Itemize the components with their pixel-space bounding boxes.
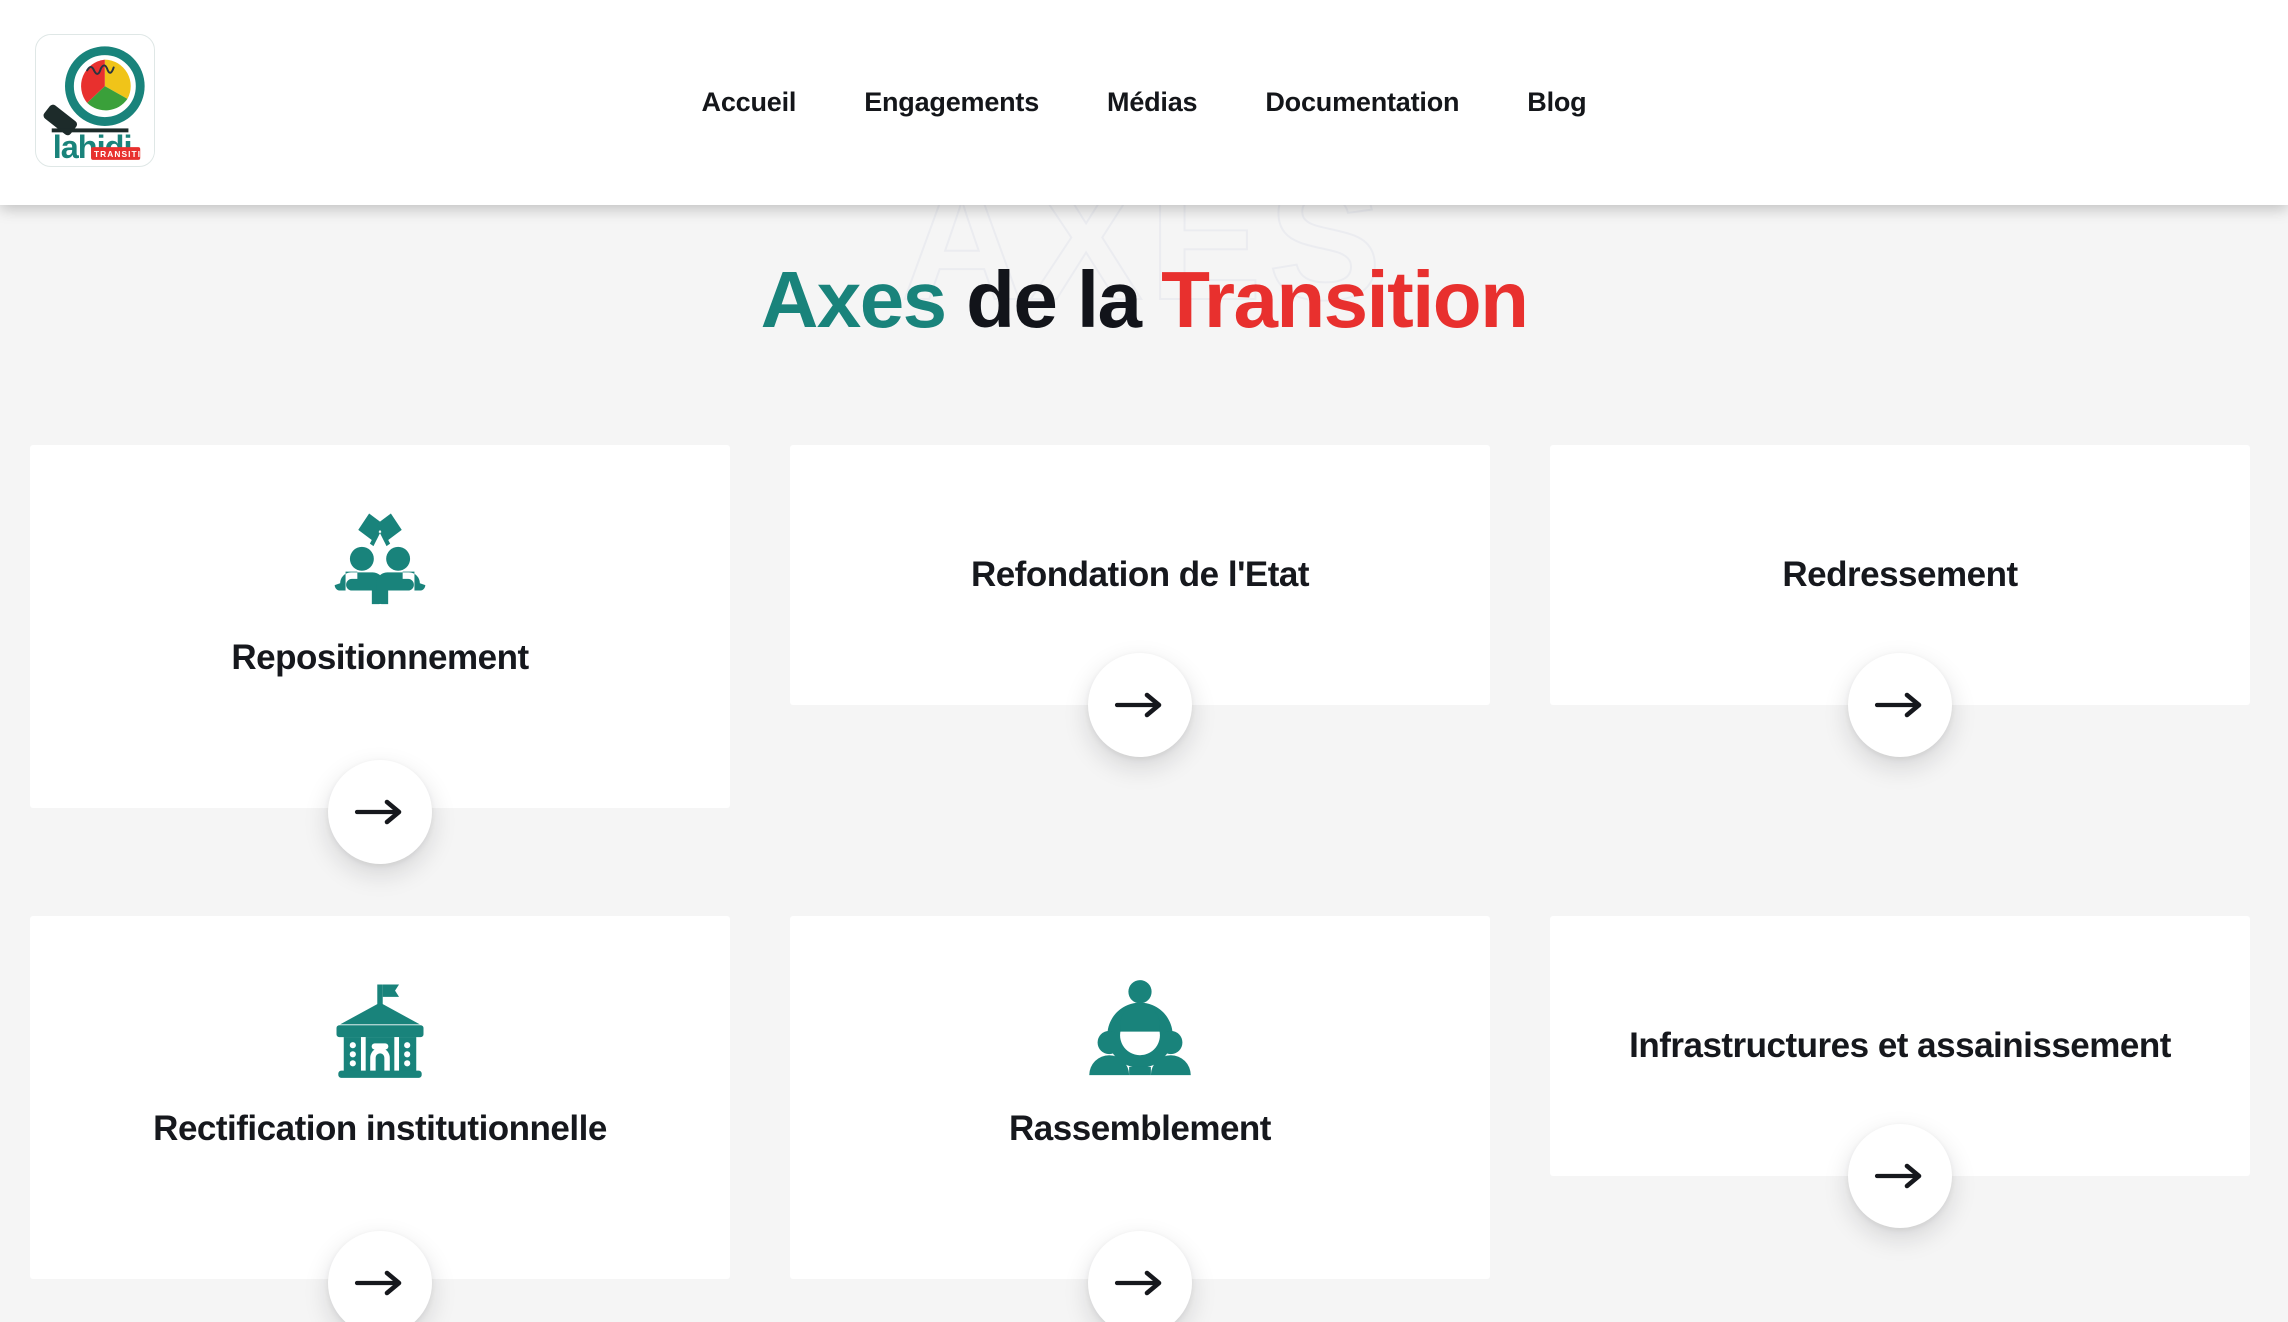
axis-card-arrow-button[interactable]: [1848, 1124, 1952, 1228]
axis-card-arrow-button[interactable]: [1088, 653, 1192, 757]
arrow-right-icon: [1113, 1266, 1167, 1300]
axis-card-title: Rassemblement: [985, 1106, 1295, 1152]
axis-card-title: Redressement: [1758, 552, 2041, 598]
axis-card-arrow-button[interactable]: [1848, 653, 1952, 757]
axis-card-redressement[interactable]: Redressement: [1550, 445, 2250, 705]
nav-item-accueil[interactable]: Accueil: [668, 77, 831, 128]
axis-card-title: Refondation de l'Etat: [947, 552, 1333, 598]
arrow-right-icon: [353, 795, 407, 829]
axis-card-rassemblement[interactable]: Rassemblement: [790, 916, 1490, 1279]
page-title-part-1: Axes: [761, 255, 946, 344]
page-title: Axes de la Transition: [0, 260, 2288, 340]
arrow-right-icon: [1113, 688, 1167, 722]
axis-card-arrow-button[interactable]: [328, 1231, 432, 1322]
nav-item-documentation[interactable]: Documentation: [1231, 77, 1493, 128]
axis-card-refondation-de-letat[interactable]: Refondation de l'Etat: [790, 445, 1490, 705]
handshake-flags-icon: [322, 499, 438, 615]
axis-card-repositionnement[interactable]: Repositionnement: [30, 445, 730, 808]
arrow-right-icon: [1873, 688, 1927, 722]
axis-card-title: Infrastructures et assainissement: [1605, 1023, 2195, 1069]
axes-section: AXES Axes de la Transition: [0, 205, 2288, 1322]
arrow-right-icon: [1873, 1159, 1927, 1193]
axis-card-arrow-button[interactable]: [1088, 1231, 1192, 1322]
institution-building-icon: [322, 970, 438, 1086]
axis-card-infrastructures-et-assainissement[interactable]: Infrastructures et assainissement: [1550, 916, 2250, 1176]
nav-item-engagements[interactable]: Engagements: [830, 77, 1073, 128]
primary-navigation: Accueil Engagements Médias Documentation…: [0, 0, 2288, 205]
arrow-right-icon: [353, 1266, 407, 1300]
nav-item-medias[interactable]: Médias: [1073, 77, 1231, 128]
axis-card-arrow-button[interactable]: [328, 760, 432, 864]
site-header: lahidi TRANSITION Accueil Engagements Mé…: [0, 0, 2288, 205]
axis-card-title: Rectification institutionnelle: [129, 1106, 631, 1152]
nav-item-blog[interactable]: Blog: [1493, 77, 1620, 128]
people-group-icon: [1082, 970, 1198, 1086]
axis-card-rectification-institutionnelle[interactable]: Rectification institutionnelle: [30, 916, 730, 1279]
page-title-part-3: Transition: [1161, 255, 1527, 344]
page-title-part-2: de la: [966, 255, 1140, 344]
axes-card-grid: Repositionnement Refondation de l'Etat R…: [30, 445, 2258, 1279]
axis-card-title: Repositionnement: [207, 635, 552, 681]
